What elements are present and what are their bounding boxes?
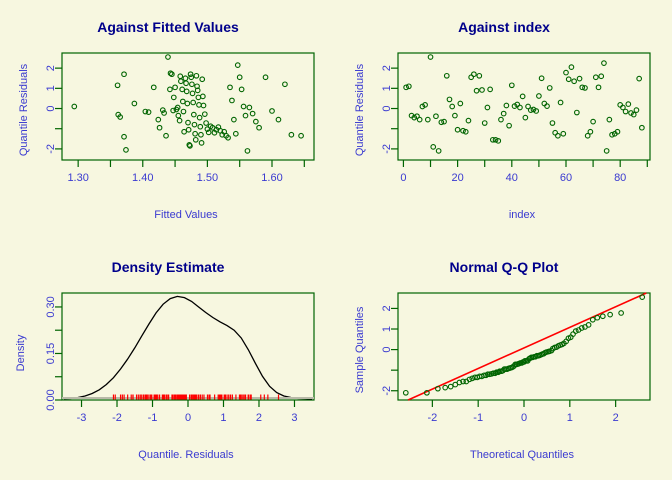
- data-point: [601, 314, 606, 319]
- y-axis-label: Quantile Residuals: [18, 63, 30, 156]
- x-tick-label: 0: [521, 412, 527, 424]
- data-point: [623, 109, 628, 114]
- plot-box: [62, 293, 314, 400]
- data-point: [518, 105, 523, 110]
- data-point: [239, 87, 244, 92]
- data-point: [263, 75, 268, 80]
- data-point: [507, 123, 512, 128]
- data-points-group: [72, 55, 303, 153]
- data-point: [203, 112, 208, 117]
- data-point: [192, 122, 197, 127]
- data-point: [523, 115, 528, 120]
- data-point: [619, 311, 624, 316]
- data-point: [182, 129, 187, 134]
- data-point: [190, 91, 195, 96]
- data-point: [417, 117, 422, 122]
- data-point: [474, 88, 479, 93]
- data-point: [434, 114, 439, 119]
- data-point: [448, 384, 453, 389]
- data-point: [151, 85, 156, 90]
- y-tick-label: 2: [381, 305, 393, 311]
- panel-title: Against Fitted Values: [97, 19, 239, 35]
- data-point: [443, 385, 448, 390]
- data-point: [122, 72, 127, 77]
- panel-title: Density Estimate: [112, 259, 225, 275]
- data-point: [194, 74, 199, 79]
- data-point: [276, 117, 281, 122]
- data-point: [637, 76, 642, 81]
- data-point: [197, 115, 202, 120]
- data-point: [283, 82, 288, 87]
- data-point: [250, 111, 255, 116]
- data-point: [537, 94, 542, 99]
- data-point: [197, 103, 202, 108]
- y-tick-label: -2: [45, 144, 57, 154]
- data-point: [604, 149, 609, 154]
- data-point: [520, 94, 525, 99]
- data-point: [156, 117, 161, 122]
- data-point: [499, 117, 504, 122]
- plot-box: [398, 53, 650, 160]
- x-axis-label: Quantile. Residuals: [138, 449, 234, 461]
- data-point: [230, 98, 235, 103]
- data-point: [235, 63, 240, 68]
- data-point: [477, 74, 482, 79]
- data-point: [243, 113, 248, 118]
- y-tick-label: -2: [381, 386, 393, 396]
- data-point: [191, 100, 196, 105]
- data-point: [590, 317, 595, 322]
- x-tick-label: -1: [473, 412, 483, 424]
- data-point: [444, 74, 449, 79]
- y-tick-label: 0: [381, 105, 393, 111]
- data-point: [556, 133, 561, 138]
- y-axis-label: Sample Quantiles: [354, 306, 366, 393]
- panel-title: Against index: [458, 19, 550, 35]
- x-tick-label: 60: [560, 172, 572, 184]
- data-point: [196, 95, 201, 100]
- data-point: [539, 76, 544, 81]
- rug-group: [62, 395, 314, 400]
- x-tick-label: 2: [256, 412, 262, 424]
- data-point: [640, 125, 645, 130]
- x-tick-label: 20: [451, 172, 463, 184]
- data-point: [193, 138, 198, 143]
- data-point: [72, 104, 77, 109]
- data-point: [180, 87, 185, 92]
- plot-density-estimate: Density Estimate Density Quantile. Resid…: [0, 240, 336, 480]
- y-tick-label: 0: [45, 105, 57, 111]
- x-tick-label: 80: [614, 172, 626, 184]
- x-tick-label: -2: [112, 412, 122, 424]
- data-point: [482, 121, 487, 126]
- data-point: [588, 129, 593, 134]
- data-point: [550, 121, 555, 126]
- data-point: [184, 89, 189, 94]
- axes-group: -3-2-101230.000.150.30: [45, 293, 314, 424]
- y-tick-label: 1: [381, 85, 393, 91]
- x-tick-label: 1.60: [261, 172, 282, 184]
- data-point: [488, 87, 493, 92]
- data-point: [201, 94, 206, 99]
- data-point: [199, 141, 204, 146]
- data-point: [547, 86, 552, 91]
- data-point: [184, 81, 189, 86]
- data-point: [431, 145, 436, 150]
- x-axis-label: Theoretical Quantiles: [470, 449, 574, 461]
- data-point: [545, 104, 550, 109]
- data-point: [426, 117, 431, 122]
- x-tick-label: 1.50: [197, 172, 218, 184]
- plot-normal-qq: Normal Q-Q Plot Sample Quantiles Theoret…: [336, 240, 672, 480]
- data-point: [586, 323, 591, 328]
- data-point: [575, 110, 580, 115]
- data-point: [232, 117, 237, 122]
- data-point: [564, 70, 569, 75]
- data-point: [247, 105, 252, 110]
- data-point: [177, 118, 182, 123]
- data-point: [436, 149, 441, 154]
- data-point: [185, 101, 190, 106]
- y-tick-label: 0.30: [45, 296, 57, 317]
- data-point: [245, 149, 250, 154]
- data-point: [599, 74, 604, 79]
- x-tick-label: -1: [148, 412, 158, 424]
- data-point: [561, 131, 566, 136]
- data-point: [192, 112, 197, 117]
- data-point: [254, 119, 259, 124]
- data-point: [186, 120, 191, 125]
- data-point: [164, 133, 169, 138]
- data-point: [166, 55, 171, 60]
- data-point: [146, 110, 151, 115]
- data-point: [132, 101, 137, 106]
- panel-against-fitted-values: Against Fitted Values Quantile Residuals…: [0, 0, 336, 240]
- data-point: [566, 77, 571, 82]
- data-point: [157, 125, 162, 130]
- data-point: [577, 76, 582, 81]
- data-point: [602, 61, 607, 66]
- data-point: [504, 103, 509, 108]
- y-tick-label: 1: [381, 326, 393, 332]
- data-point: [634, 108, 639, 113]
- y-axis-label: Density: [15, 334, 27, 371]
- y-tick-label: 1: [45, 85, 57, 91]
- x-tick-label: 0: [185, 412, 191, 424]
- data-point: [558, 100, 563, 105]
- data-point: [189, 75, 194, 80]
- figure-canvas: Against Fitted Values Quantile Residuals…: [0, 0, 672, 480]
- data-point: [200, 77, 205, 82]
- data-point: [450, 104, 455, 109]
- data-point: [299, 133, 304, 138]
- plot-against-index: Against index Quantile Residuals index 0…: [336, 0, 672, 240]
- data-point: [466, 118, 471, 123]
- data-point: [607, 117, 612, 122]
- data-point: [403, 391, 408, 396]
- data-point: [190, 82, 195, 87]
- panel-normal-qq-plot: Normal Q-Q Plot Sample Quantiles Theoret…: [336, 240, 672, 480]
- data-point: [173, 85, 178, 90]
- qq-reference-line: [408, 293, 646, 400]
- data-point: [485, 105, 490, 110]
- data-point: [178, 74, 183, 79]
- data-point: [201, 103, 206, 108]
- data-point: [458, 101, 463, 106]
- data-point: [596, 85, 601, 90]
- data-point: [170, 72, 175, 77]
- data-point: [171, 95, 176, 100]
- panel-density-estimate: Density Estimate Density Quantile. Resid…: [0, 240, 336, 480]
- x-tick-label: 1.30: [67, 172, 88, 184]
- data-point: [472, 72, 477, 77]
- data-point: [234, 131, 239, 136]
- data-point: [176, 113, 181, 118]
- data-point: [501, 111, 506, 116]
- data-point: [594, 75, 599, 80]
- data-point: [428, 55, 433, 60]
- data-point: [447, 97, 452, 102]
- data-point: [179, 79, 184, 84]
- x-axis-label: index: [509, 209, 536, 221]
- x-tick-label: 1: [567, 412, 573, 424]
- data-point: [626, 102, 631, 107]
- x-tick-label: -2: [427, 412, 437, 424]
- x-tick-label: -3: [77, 412, 87, 424]
- data-point: [453, 113, 458, 118]
- x-axis-label: Fitted Values: [154, 209, 218, 221]
- x-tick-label: 1: [220, 412, 226, 424]
- data-point: [572, 79, 577, 84]
- x-tick-label: 0: [400, 172, 406, 184]
- data-point: [186, 127, 191, 132]
- y-tick-label: -2: [381, 144, 393, 154]
- data-point: [257, 125, 262, 130]
- data-point: [237, 75, 242, 80]
- data-point: [542, 101, 547, 106]
- data-point: [198, 124, 203, 129]
- data-point: [181, 109, 186, 114]
- data-point: [510, 83, 515, 88]
- data-point: [480, 88, 485, 93]
- qq-reference-line-group: [408, 293, 646, 400]
- data-point: [122, 134, 127, 139]
- data-point: [608, 312, 613, 317]
- data-point: [241, 104, 246, 109]
- x-tick-label: 2: [613, 412, 619, 424]
- data-point: [199, 132, 204, 137]
- y-tick-label: 0: [381, 347, 393, 353]
- data-point: [204, 121, 209, 126]
- data-point: [168, 87, 173, 92]
- data-point: [455, 127, 460, 132]
- density-curve-group: [64, 296, 312, 399]
- y-tick-label: 0.00: [45, 389, 57, 410]
- density-curve: [64, 296, 312, 399]
- data-point: [193, 131, 198, 136]
- x-tick-label: 1.40: [132, 172, 153, 184]
- data-point: [181, 99, 186, 104]
- data-point: [183, 76, 188, 81]
- data-point: [569, 65, 574, 70]
- data-point: [270, 109, 275, 114]
- plot-against-fitted-values: Against Fitted Values Quantile Residuals…: [0, 0, 336, 240]
- y-tick-label: 0.15: [45, 343, 57, 364]
- data-point: [591, 119, 596, 124]
- data-point: [228, 85, 233, 90]
- data-point: [124, 148, 129, 153]
- panel-against-index: Against index Quantile Residuals index 0…: [336, 0, 672, 240]
- y-axis-label: Quantile Residuals: [354, 63, 366, 156]
- y-tick-label: 2: [45, 65, 57, 71]
- data-point: [618, 103, 623, 108]
- y-tick-label: 2: [381, 65, 393, 71]
- data-point: [115, 83, 120, 88]
- panel-title: Normal Q-Q Plot: [450, 259, 559, 275]
- data-point: [595, 315, 600, 320]
- x-tick-label: 3: [291, 412, 297, 424]
- data-point: [289, 132, 294, 137]
- x-tick-label: 40: [506, 172, 518, 184]
- data-points-group: [404, 55, 644, 153]
